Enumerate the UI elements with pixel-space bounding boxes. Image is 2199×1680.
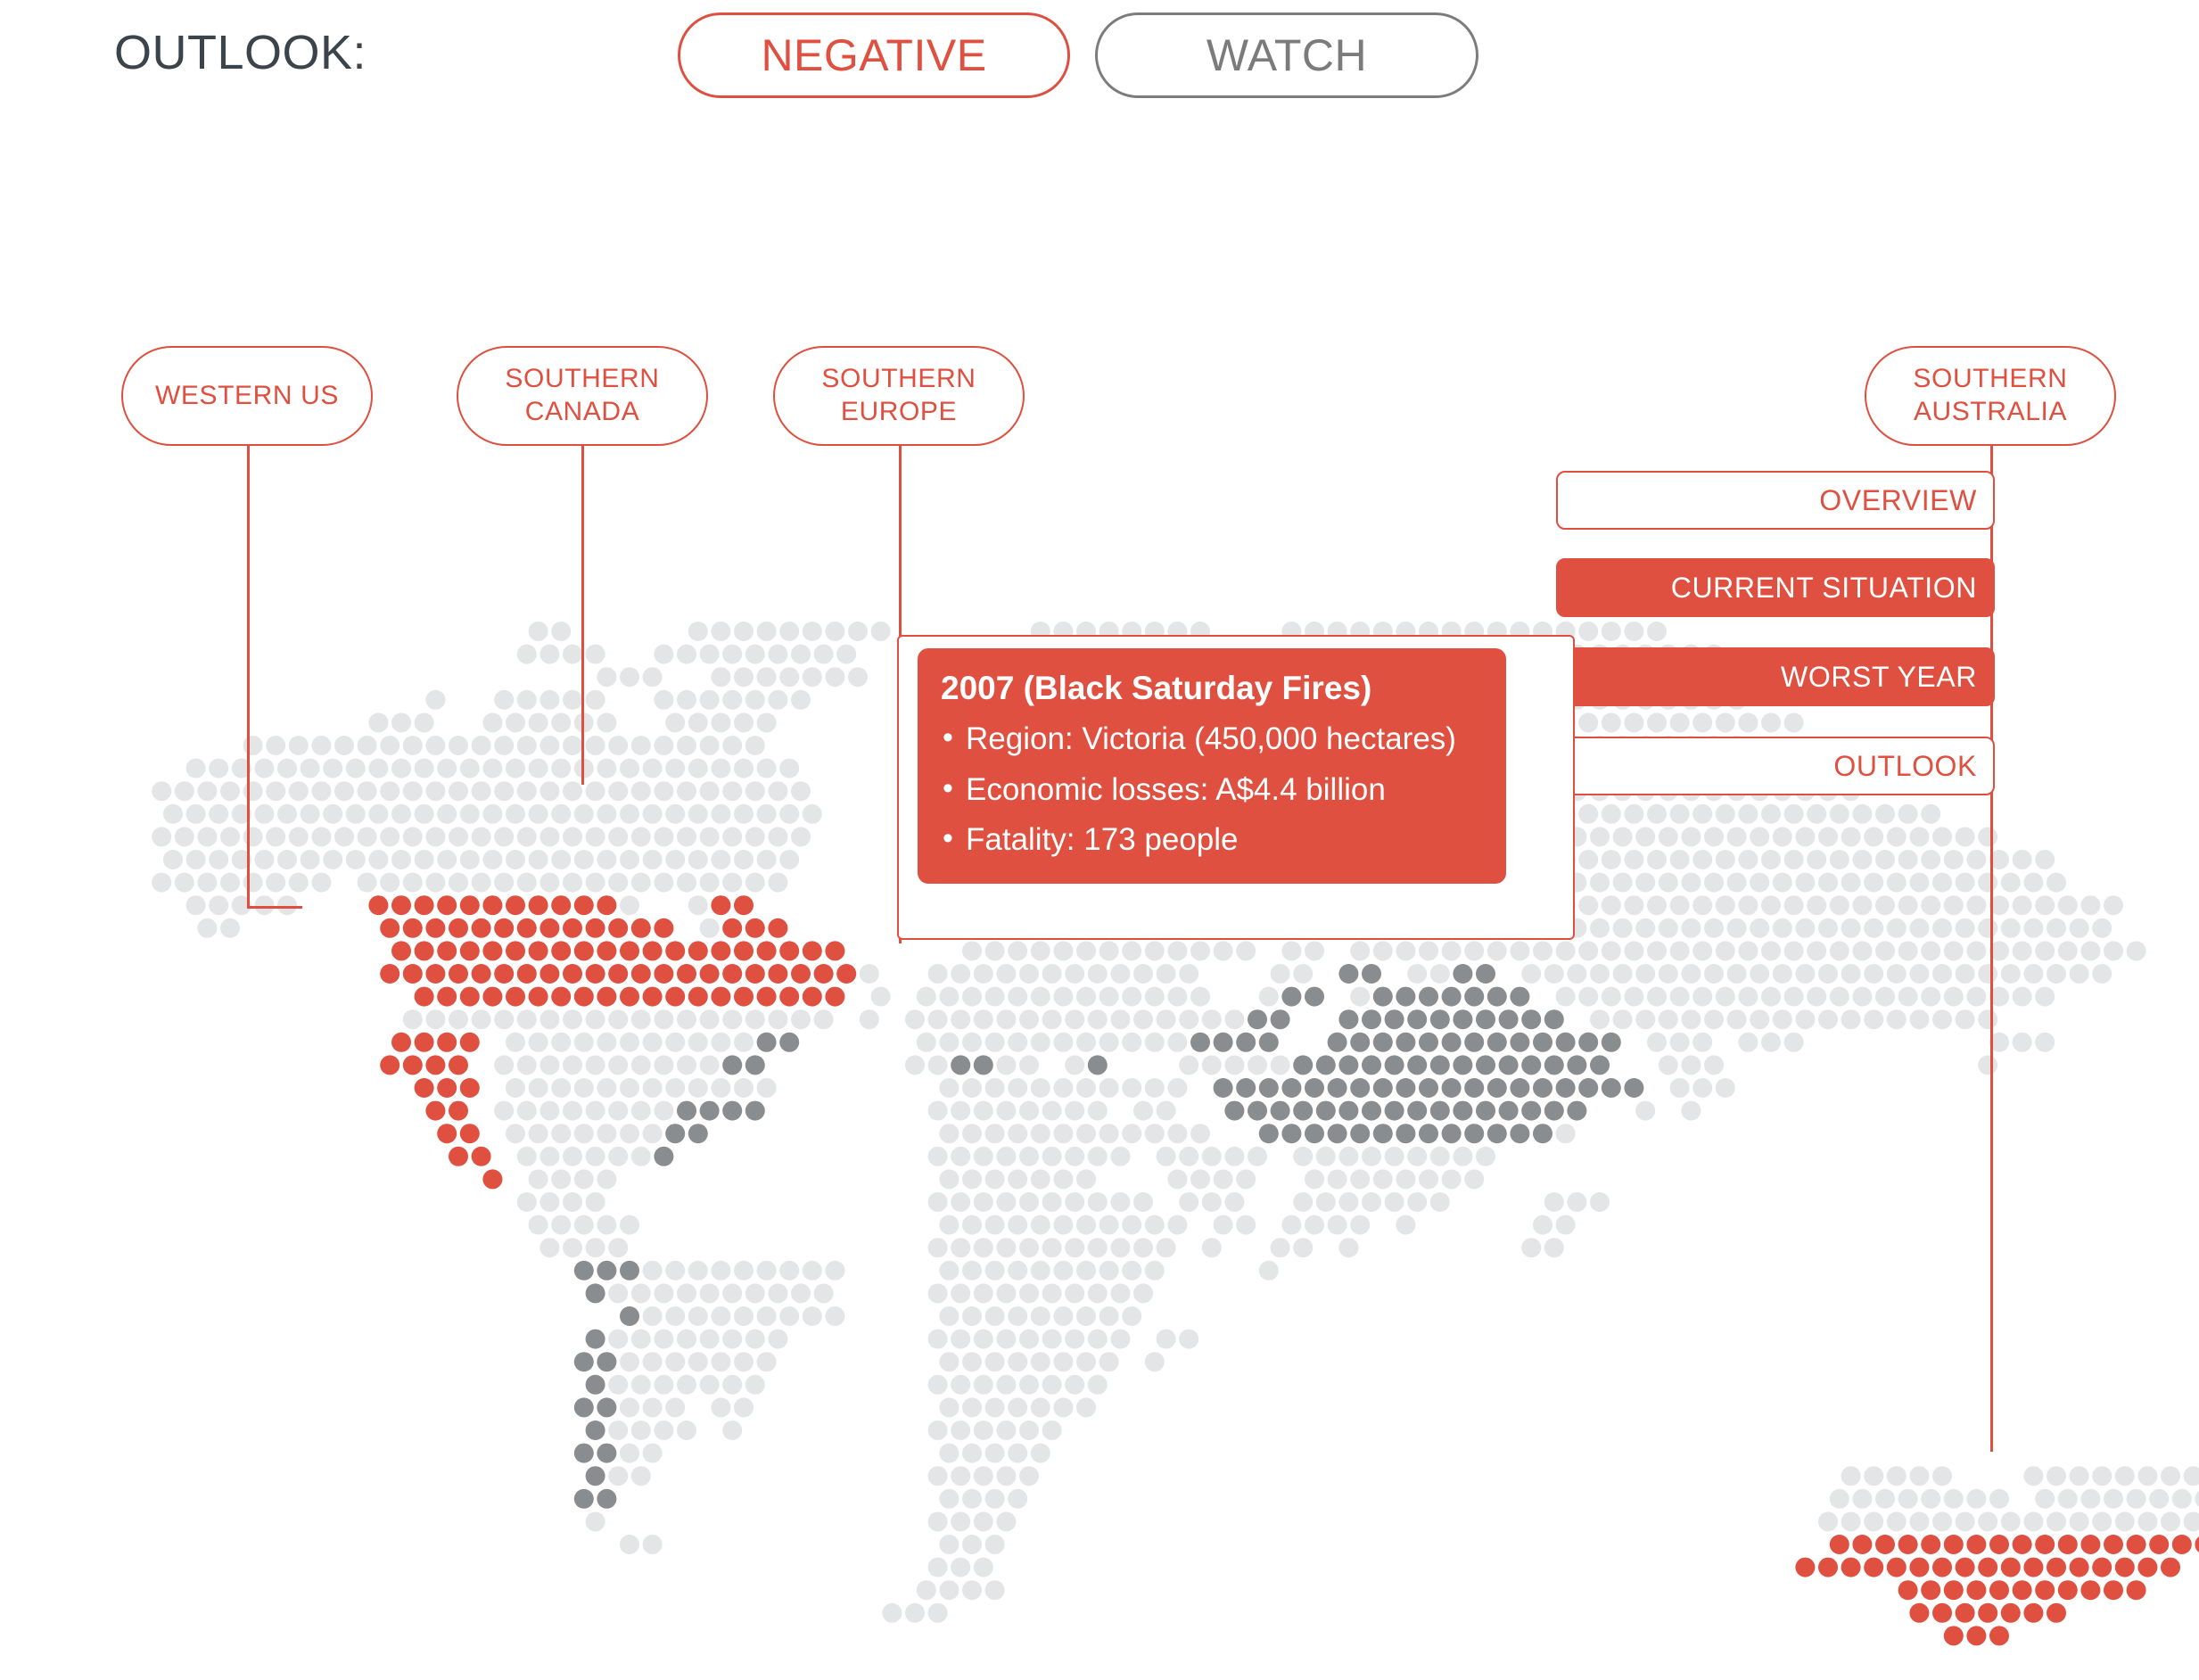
nav-button-overview-label: OVERVIEW <box>1819 484 1977 517</box>
region-pill-southern-europe-label-line1: SOUTHERN <box>821 363 976 396</box>
leader-line-western-us-horizontal <box>247 906 302 909</box>
region-pill-southern-europe-label-line2: EUROPE <box>841 396 957 429</box>
nav-button-worst-year[interactable]: WORST YEAR <box>1556 647 1995 706</box>
nav-button-worst-year-label: WORST YEAR <box>1781 661 1977 694</box>
tooltip-bullet-economic-losses: Economic losses: A$4.4 billion <box>941 770 1483 810</box>
region-pill-southern-canada[interactable]: SOUTHERN CANADA <box>457 346 708 446</box>
nav-button-overview[interactable]: OVERVIEW <box>1556 471 1995 530</box>
region-pill-southern-canada-label-line2: CANADA <box>525 396 640 429</box>
tooltip-bullet-fatality: Fatality: 173 people <box>941 820 1483 860</box>
tooltip-card: 2007 (Black Saturday Fires) Region: Vict… <box>918 648 1506 884</box>
region-pill-southern-australia[interactable]: SOUTHERN AUSTRALIA <box>1865 346 2116 446</box>
region-pill-southern-australia-label-line1: SOUTHERN <box>1913 363 2067 396</box>
region-pill-southern-australia-label-line2: AUSTRALIA <box>1914 396 2067 429</box>
nav-button-outlook[interactable]: OUTLOOK <box>1556 737 1995 795</box>
region-pill-western-us[interactable]: WESTERN US <box>121 346 373 446</box>
region-pill-western-us-label: WESTERN US <box>155 380 339 413</box>
region-pill-southern-canada-label-line1: SOUTHERN <box>505 363 659 396</box>
tooltip-bullet-region: Region: Victoria (450,000 hectares) <box>941 720 1483 759</box>
nav-button-outlook-label: OUTLOOK <box>1833 750 1977 783</box>
tooltip-title: 2007 (Black Saturday Fires) <box>941 668 1483 709</box>
leader-line-western-us-vertical <box>247 446 250 908</box>
nav-button-current-situation-label: CURRENT SITUATION <box>1671 572 1977 605</box>
nav-button-current-situation[interactable]: CURRENT SITUATION <box>1556 558 1995 617</box>
region-pill-southern-europe[interactable]: SOUTHERN EUROPE <box>773 346 1025 446</box>
leader-line-southern-canada-vertical <box>581 446 584 785</box>
